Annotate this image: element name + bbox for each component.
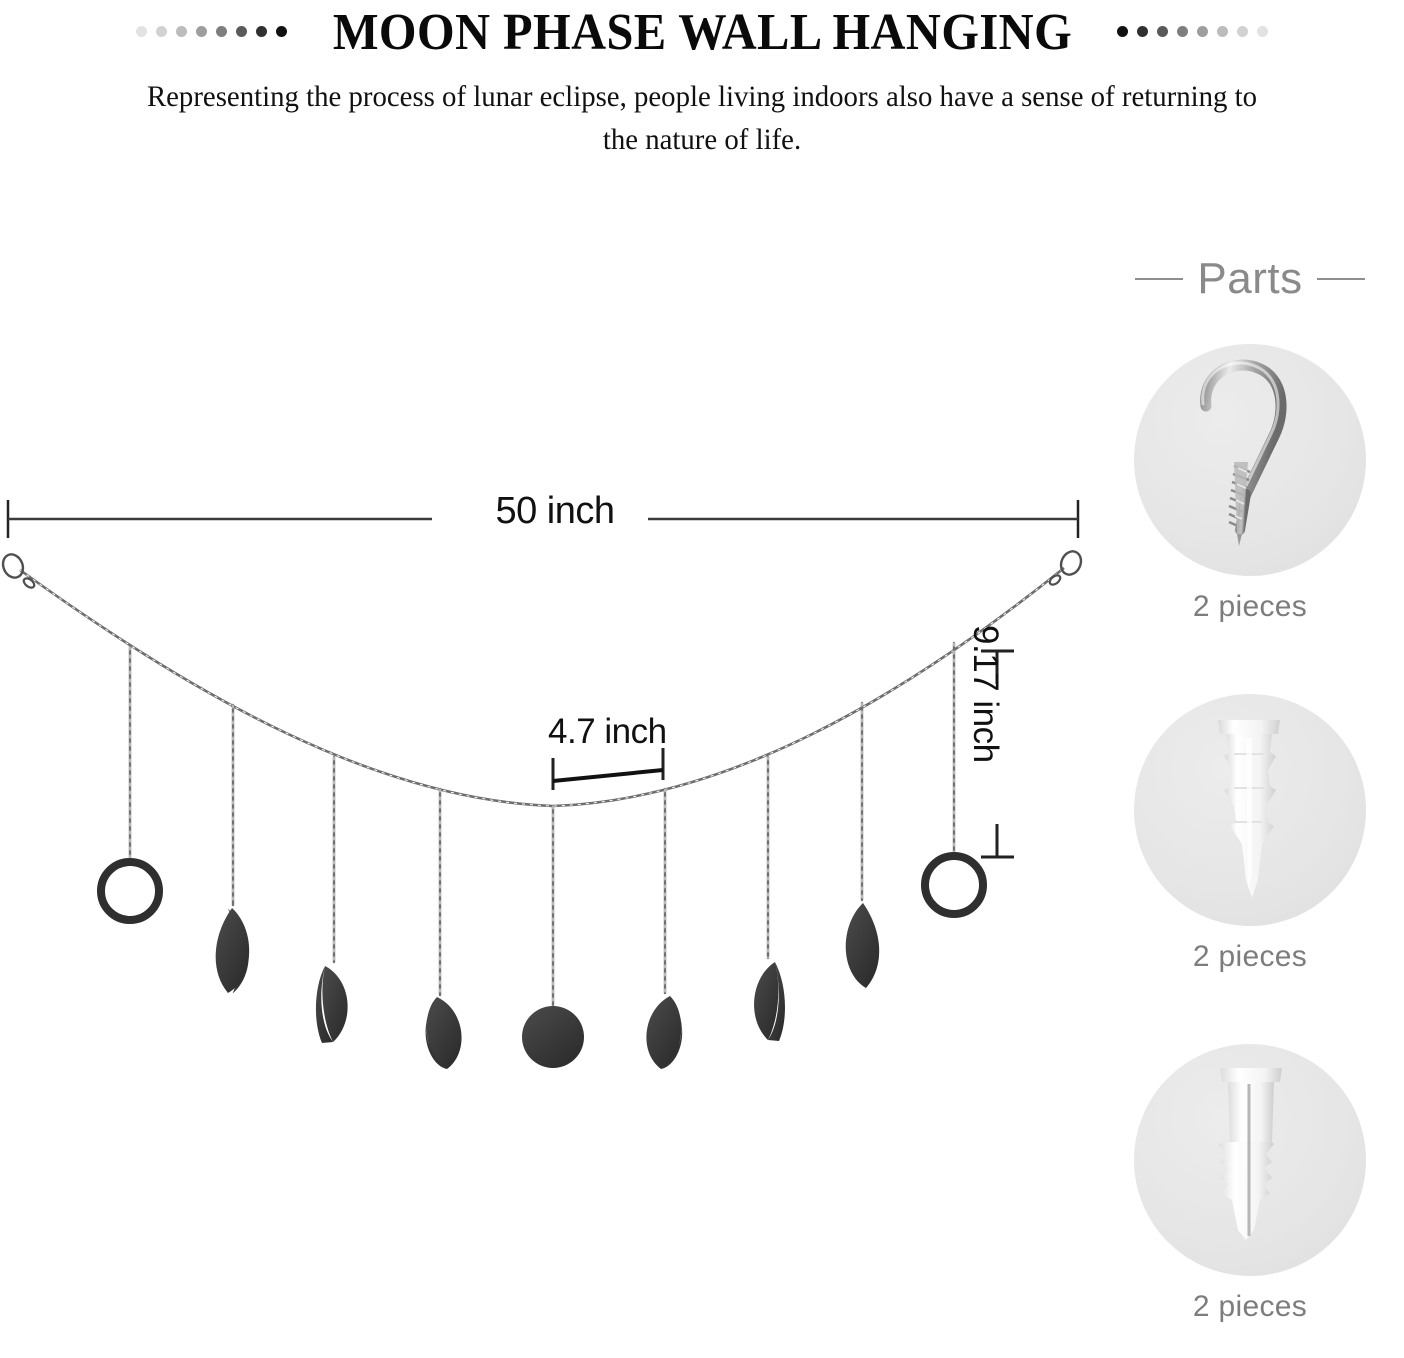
part-item-wall-plug: 2 pieces (1096, 1044, 1404, 1324)
decorative-dot-right-5 (1217, 26, 1228, 37)
pendant-new-moon-ring (101, 862, 159, 920)
decorative-dots-right (1117, 26, 1268, 41)
parts-panel: Parts (1096, 248, 1404, 1358)
decorative-dot-right-3 (1177, 26, 1188, 37)
pendant-waning-crescent (846, 903, 879, 988)
main-chain (20, 568, 1064, 806)
product-diagram: 50 inch 4.7 inch 9.17 inch (0, 0, 1100, 1358)
part-item-screw-hook: 2 pieces (1096, 344, 1404, 624)
part-thumbnail-wall-plug (1134, 1044, 1366, 1276)
pendant-waning-gibbous (646, 996, 682, 1069)
decorative-dot-right-0 (1117, 26, 1128, 37)
part-thumbnail-drywall-anchor (1134, 694, 1366, 926)
part-label-screw-hook: 2 pieces (1096, 590, 1404, 624)
pendant-waxing-crescent (216, 907, 253, 994)
pendant-new-moon-ring-end (925, 856, 983, 914)
part-item-drywall-anchor: 2 pieces (1096, 694, 1404, 974)
screw-hook-icon (1134, 344, 1366, 576)
parts-header: Parts (1096, 248, 1404, 310)
chain-end-loop-left (0, 551, 36, 589)
width-dimension-label: 50 inch (470, 490, 640, 533)
part-thumbnail-screw-hook (1134, 344, 1366, 576)
drop-chains (130, 643, 954, 1010)
chain-end-loop-right (1048, 548, 1085, 586)
drop-dimension-label: 9.17 inch (965, 625, 1005, 825)
pendant-full-moon (522, 1006, 584, 1068)
parts-heading: Parts (1197, 257, 1302, 301)
pendant-last-quarter (754, 962, 785, 1041)
spacing-dimension (553, 748, 663, 790)
decorative-dot-right-4 (1197, 26, 1208, 37)
part-label-drywall-anchor: 2 pieces (1096, 940, 1404, 974)
part-label-wall-plug: 2 pieces (1096, 1290, 1404, 1324)
spacing-dimension-label: 4.7 inch (548, 712, 667, 752)
wall-plug-icon (1134, 1044, 1366, 1276)
parts-rule-left (1135, 278, 1183, 280)
decorative-dot-right-1 (1137, 26, 1148, 37)
pendant-first-quarter (316, 966, 348, 1043)
drywall-anchor-icon (1134, 694, 1366, 926)
decorative-dot-right-6 (1237, 26, 1248, 37)
decorative-dot-right-2 (1157, 26, 1168, 37)
parts-rule-right (1317, 278, 1365, 280)
decorative-dot-right-7 (1257, 26, 1268, 37)
pendant-waxing-gibbous (426, 997, 462, 1069)
